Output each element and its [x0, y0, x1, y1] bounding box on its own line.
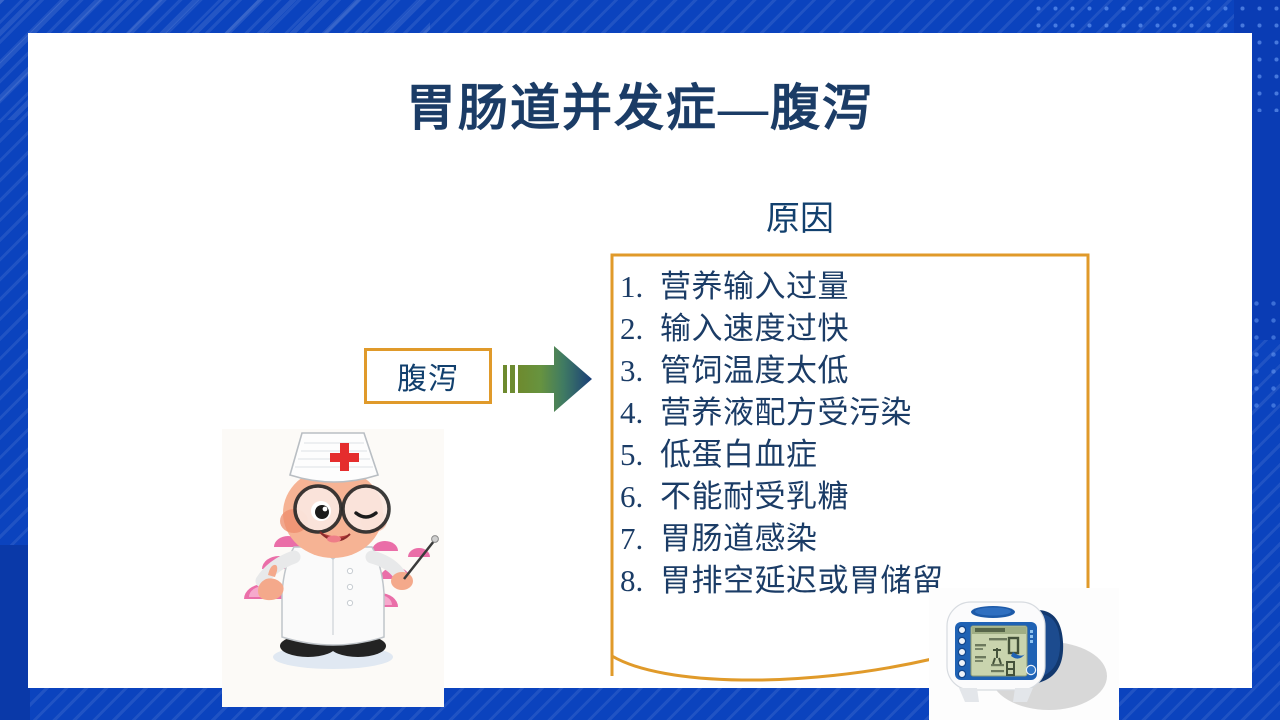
- causes-list: 1. 营养输入过量 2. 输入速度过快 3. 管饲温度太低 4. 营养液配方受污…: [620, 261, 1090, 597]
- slide-title: 胃肠道并发症—腹泻: [28, 68, 1252, 140]
- list-item-number: 8.: [620, 563, 660, 599]
- list-item: 5. 低蛋白血症: [620, 429, 1090, 471]
- list-item: 1. 营养输入过量: [620, 261, 1090, 303]
- cartoon-doctor-image: [222, 429, 444, 707]
- list-item-text: 营养输入过量: [660, 261, 849, 306]
- list-item: 4. 营养液配方受污染: [620, 387, 1090, 429]
- list-item-text: 管饲温度太低: [660, 345, 849, 390]
- list-item-number: 7.: [620, 521, 660, 557]
- list-item-text: 输入速度过快: [660, 303, 849, 348]
- list-item-number: 3.: [620, 353, 660, 389]
- list-item-text: 胃排空延迟或胃储留: [660, 555, 944, 600]
- list-item: 7. 胃肠道感染: [620, 513, 1090, 555]
- background-dot-pattern-right: [1248, 295, 1280, 415]
- list-item-text: 胃肠道感染: [660, 513, 818, 558]
- source-concept-label: 腹泻: [397, 354, 459, 398]
- background-wedge-left: [0, 545, 30, 720]
- right-arrow-icon: [502, 340, 594, 418]
- feeding-pump-image: [929, 588, 1119, 720]
- list-item-number: 4.: [620, 395, 660, 431]
- list-item-text: 营养液配方受污染: [660, 387, 912, 432]
- list-item-number: 2.: [620, 311, 660, 347]
- list-item-text: 低蛋白血症: [660, 429, 818, 474]
- slide-root: 胃肠道并发症—腹泻 原因 腹泻: [0, 0, 1280, 720]
- list-item: 3. 管饲温度太低: [620, 345, 1090, 387]
- slide-canvas: 胃肠道并发症—腹泻 原因 腹泻: [28, 33, 1252, 688]
- list-item-number: 5.: [620, 437, 660, 473]
- causes-heading: 原因: [700, 191, 900, 240]
- list-item: 6. 不能耐受乳糖: [620, 471, 1090, 513]
- list-item-number: 6.: [620, 479, 660, 515]
- source-concept-box: 腹泻: [364, 348, 492, 404]
- list-item-number: 1.: [620, 269, 660, 305]
- list-item-text: 不能耐受乳糖: [660, 471, 849, 516]
- list-item: 2. 输入速度过快: [620, 303, 1090, 345]
